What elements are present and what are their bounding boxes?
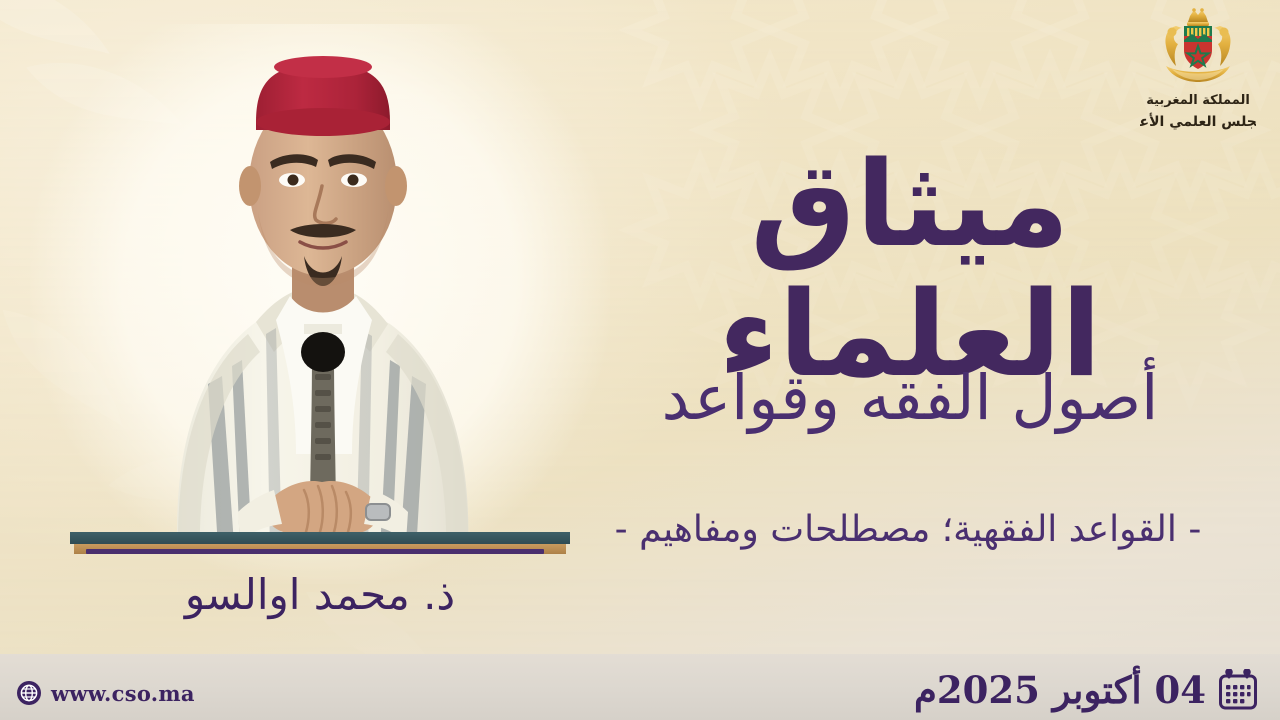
speaker-photo xyxy=(60,34,580,554)
website-link[interactable]: www.cso.ma xyxy=(16,680,195,706)
speaker-name-divider xyxy=(86,549,544,554)
speaker-name: ذ. محمد اوالسو xyxy=(60,570,580,619)
council-logo-text: المملكة المغربية المجلس العلمي الأعلى xyxy=(1140,86,1256,140)
subtitle: أصول الفقه وقواعد xyxy=(600,362,1220,433)
kingdom-line: المملكة المغربية xyxy=(1146,93,1250,108)
speaker-portrait-illustration xyxy=(60,34,580,554)
calendar-icon xyxy=(1218,669,1258,711)
globe-icon xyxy=(16,680,42,706)
date-block: 04 أكتوبر 2025م xyxy=(914,668,1258,712)
website-text: www.cso.ma xyxy=(51,681,195,706)
presentation-slide: ذ. محمد اوالسو xyxy=(0,0,1280,720)
emblem-block: المملكة المغربية المجلس العلمي الأعلى xyxy=(1138,8,1258,140)
date-text: 04 أكتوبر 2025م xyxy=(914,668,1206,712)
topic-line: - القواعد الفقهية؛ مصطلحات ومفاهيم - xyxy=(588,508,1228,551)
morocco-coat-of-arms-icon xyxy=(1150,8,1246,84)
council-line: المجلس العلمي الأعلى xyxy=(1140,113,1256,130)
